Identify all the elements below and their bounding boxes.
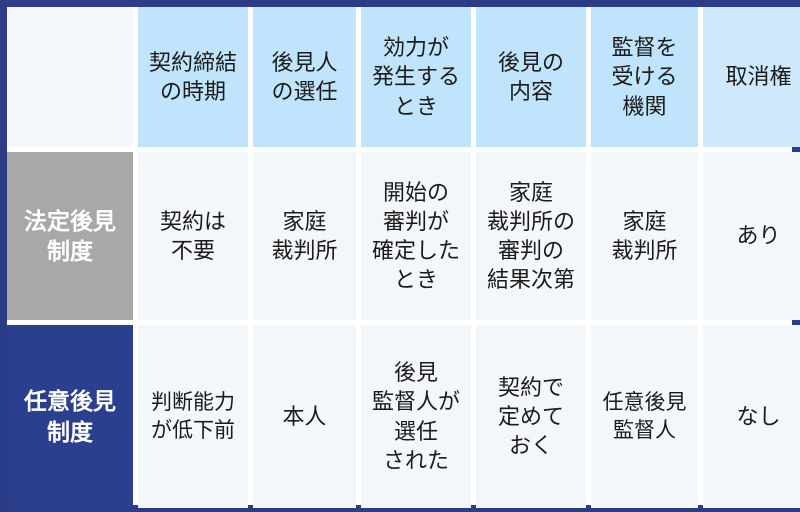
table-cell-r0c1: 契約は不要	[138, 152, 248, 320]
column-header-guardianship-content: 後見の内容	[476, 7, 586, 147]
table-cell-r1c6: なし	[703, 325, 800, 508]
column-header-right-of-rescission: 取消権	[703, 7, 800, 147]
table-cell-r0c2: 家庭裁判所	[253, 152, 356, 320]
table-cell-r0c6: あり	[703, 152, 800, 320]
column-header-supervising-body: 監督を受ける機関	[591, 7, 698, 147]
table-frame: 契約締結の時期 後見人の選任 効力が発生するとき 後見の内容 監督を受ける機関 …	[0, 0, 800, 512]
row-header-statutory-guardianship: 法定後見制度	[7, 152, 133, 320]
table-cell-r1c1: 判断能力が低下前	[138, 325, 248, 508]
column-header-contract-timing: 契約締結の時期	[138, 7, 248, 147]
table-cell-r1c2: 本人	[253, 325, 356, 508]
table-corner-cell	[7, 7, 133, 147]
table-cell-r1c4: 契約で定めておく	[476, 325, 586, 508]
table-cell-r1c5: 任意後見監督人	[591, 325, 698, 508]
table-cell-r0c3: 開始の審判が確定したとき	[361, 152, 471, 320]
comparison-table: 契約締結の時期 後見人の選任 効力が発生するとき 後見の内容 監督を受ける機関 …	[7, 7, 792, 505]
table-cell-r0c4: 家庭裁判所の審判の結果次第	[476, 152, 586, 320]
column-header-guardian-appointment: 後見人の選任	[253, 7, 356, 147]
table-cell-r1c3: 後見監督人が選任された	[361, 325, 471, 508]
column-header-effect-start: 効力が発生するとき	[361, 7, 471, 147]
table-cell-r0c5: 家庭裁判所	[591, 152, 698, 320]
row-header-voluntary-guardianship: 任意後見制度	[7, 325, 133, 508]
